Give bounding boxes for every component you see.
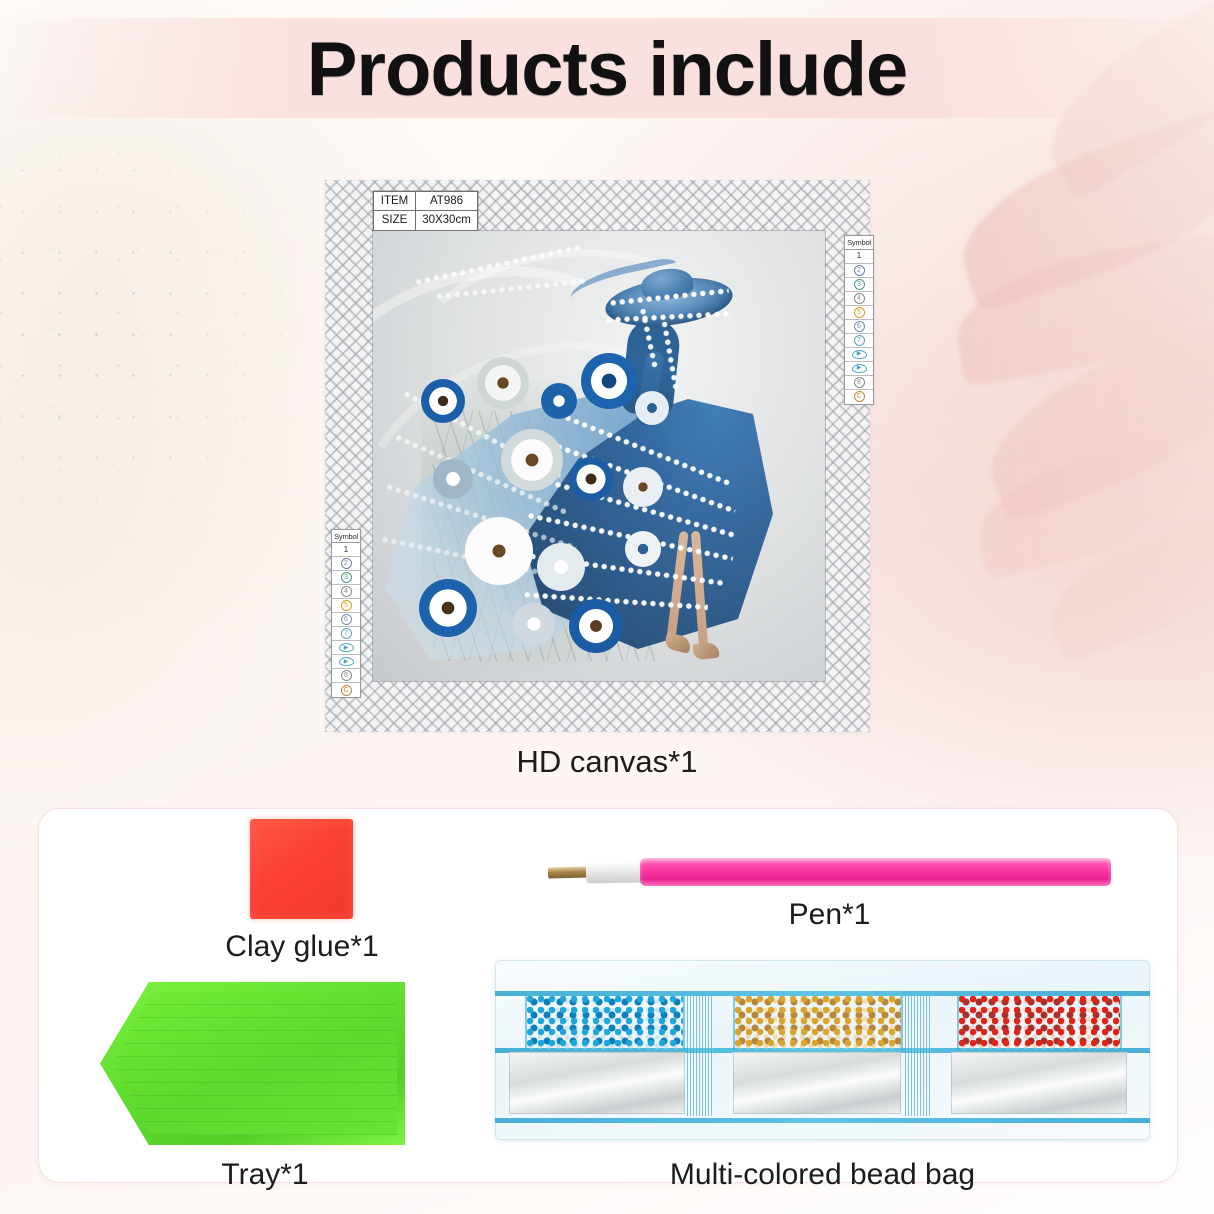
foil-label-strip [733,1052,901,1114]
symbol-legend-row: 5 [845,306,873,320]
symbol-legend-row: 1 [332,543,360,557]
artwork-flower [625,531,661,567]
symbol-legend-row: 4 [332,585,360,599]
symbol-value: 3 [854,279,865,290]
symbol-legend-row: 7 [332,627,360,641]
product-infographic: Products include ITEM AT986 SIZE 30X30cm [0,0,1214,1214]
symbol-legend-row: ▶ [845,348,873,362]
symbol-value: ▶ [852,364,867,373]
symbol-value: ▶ [339,643,354,652]
pen-illustration [548,856,1111,890]
artwork-flower [581,353,637,409]
artwork-flower [541,383,577,419]
artwork-flower [465,517,533,585]
symbol-value: 4 [341,586,352,597]
bead-compartment-gold [733,996,903,1050]
foil-label-strip [509,1052,685,1114]
hd-canvas-label: HD canvas*1 [0,744,1214,780]
artwork-flower [623,467,663,507]
symbol-legend-row: 3 [332,571,360,585]
tray-grooves [112,992,397,1135]
symbol-legend-row: C [332,683,360,697]
spec-item-value: AT986 [416,192,478,211]
bead-compartment-blue [525,996,685,1050]
symbol-legend-row: 5 [332,599,360,613]
artwork-flower [501,429,563,491]
artwork-flower [433,459,473,499]
bag-pleat-ribs [687,996,713,1116]
artwork-flower [419,579,477,637]
beads-gold [735,996,901,1050]
pen-body [640,858,1111,886]
bag-seal-strip [495,1118,1150,1123]
table-row: ITEM AT986 [374,192,478,211]
artwork-flower [513,603,555,645]
tray-label: Tray*1 [30,1158,500,1192]
artwork-flower [569,457,613,501]
symbol-legend-row: 7 [845,334,873,348]
symbol-legend-header: Symbol [332,530,360,544]
symbol-legend-row: 2 [332,557,360,571]
symbol-legend-row: 3 [845,278,873,292]
artwork-flower [569,599,623,653]
symbol-value: 8 [341,670,352,681]
symbol-value: 1 [857,252,861,260]
canvas-artwork [373,231,825,681]
artwork-flower [421,379,465,423]
symbol-value: 2 [854,265,865,276]
symbol-legend-row: 4 [845,292,873,306]
symbol-value: ▶ [339,657,354,666]
bead-bag-label: Multi-colored bead bag [495,1158,1150,1192]
symbol-legend-row: ▶ [332,655,360,669]
clay-glue-swatch [250,819,353,919]
pen-metal-tip [548,866,590,878]
symbol-value: ▶ [852,350,867,359]
symbol-value: 7 [854,335,865,346]
foil-label-strip [951,1052,1127,1114]
symbol-value: 8 [854,377,865,388]
table-row: SIZE 30X30cm [374,211,478,230]
bag-pleat-ribs [905,996,931,1116]
spec-size-value: 30X30cm [416,211,478,230]
artwork-flower [537,543,585,591]
symbol-legend-row: 6 [845,320,873,334]
symbol-legend-row: ▶ [845,362,873,376]
symbol-value: 5 [854,307,865,318]
symbol-value: 6 [854,321,865,332]
symbol-value: C [341,685,352,696]
symbol-value: 7 [341,628,352,639]
beads-blue [527,996,683,1050]
symbol-value: 2 [341,558,352,569]
canvas-spec-table: ITEM AT986 SIZE 30X30cm [373,191,478,231]
pen-label: Pen*1 [548,898,1111,932]
beads-red [959,996,1120,1050]
symbol-legend-row: 6 [332,613,360,627]
spec-size-key: SIZE [374,211,416,230]
bead-bag-illustration [495,960,1150,1140]
artwork-flower [635,391,669,425]
page-title: Products include [0,26,1214,113]
bead-compartment-red [957,996,1122,1050]
clay-glue-label: Clay glue*1 [0,930,604,964]
spec-item-key: ITEM [374,192,416,211]
symbol-legend-header: Symbol [845,236,873,250]
symbol-legend-row: 8 [845,376,873,390]
symbol-legend-right: Symbol 1 2 3 4 5 6 7 ▶ ▶ 8 C [844,235,874,405]
symbol-value: 5 [341,600,352,611]
hd-canvas-product: ITEM AT986 SIZE 30X30cm [325,180,870,732]
symbol-legend-row: 1 [845,250,873,264]
symbol-value: 1 [344,546,348,554]
symbol-legend-row: 8 [332,669,360,683]
symbol-value: C [854,391,865,402]
pen-ferrule [586,861,644,883]
symbol-value: 3 [341,572,352,583]
symbol-legend-row: 2 [845,264,873,278]
symbol-legend-row: C [845,390,873,404]
symbol-legend-row: ▶ [332,641,360,655]
symbol-value: 6 [341,614,352,625]
artwork-flower [477,357,529,409]
symbol-legend-left: Symbol 1 2 3 4 5 6 7 ▶ ▶ 8 C [331,529,361,699]
symbol-value: 4 [854,293,865,304]
